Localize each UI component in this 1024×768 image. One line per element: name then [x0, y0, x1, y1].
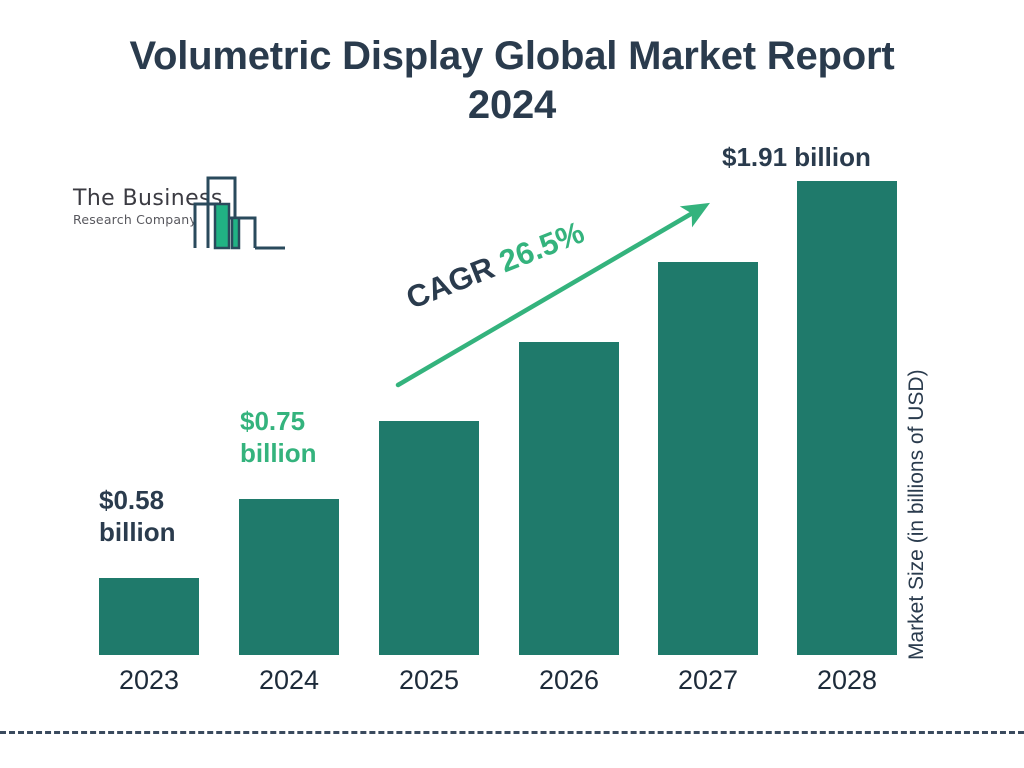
- footer-divider: [0, 731, 1024, 734]
- chart-page: Volumetric Display Global Market Report …: [0, 0, 1024, 768]
- bar-2025: [379, 421, 479, 655]
- bar-2027: [658, 262, 758, 655]
- value-label-2023: $0.58 billion: [99, 484, 209, 548]
- x-tick-2024: 2024: [239, 665, 339, 696]
- x-tick-2026: 2026: [519, 665, 619, 696]
- bar-2024: [239, 499, 339, 655]
- bar-2026: [519, 342, 619, 655]
- y-axis-title: Market Size (in billions of USD): [905, 369, 929, 660]
- x-tick-2025: 2025: [379, 665, 479, 696]
- cagr-annotation: CAGR 26.5%: [401, 214, 589, 316]
- value-label-2024: $0.75 billion: [240, 405, 350, 469]
- cagr-value: 26.5%: [494, 214, 589, 279]
- value-label-2028: $1.91 billion: [722, 141, 972, 173]
- bar-2023: [99, 578, 199, 655]
- x-tick-2028: 2028: [797, 665, 897, 696]
- cagr-label: CAGR: [401, 250, 499, 316]
- bar-2028: [797, 181, 897, 655]
- x-tick-2023: 2023: [99, 665, 199, 696]
- bar-chart-plot: $0.58 billion $0.75 billion $1.91 billio…: [0, 0, 1024, 768]
- x-tick-2027: 2027: [658, 665, 758, 696]
